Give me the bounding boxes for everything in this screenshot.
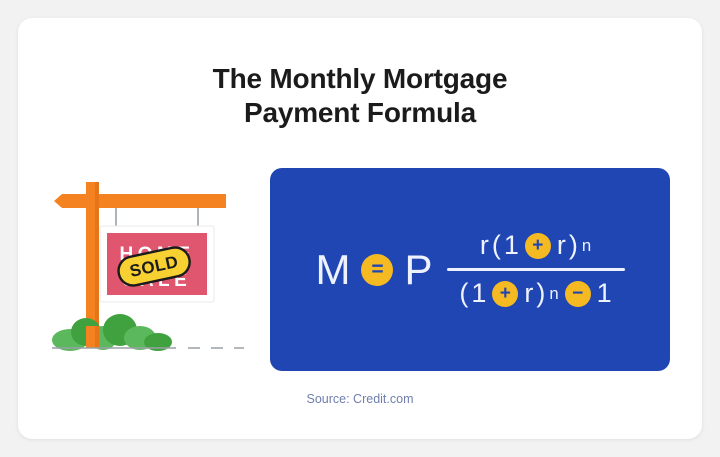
infographic-root: The Monthly Mortgage Payment Formula HOM… bbox=[0, 0, 720, 457]
title-line-1: The Monthly Mortgage bbox=[18, 62, 702, 96]
formula-variable-m: M bbox=[315, 249, 350, 291]
source-attribution: Source: Credit.com bbox=[18, 392, 702, 406]
formula-panel: M = P r ( 1 + r ) n bbox=[270, 168, 670, 371]
formula-numerator: r ( 1 + r ) n bbox=[480, 232, 591, 268]
home-for-sale-sign-illustration: HOME SALE SOLD bbox=[48, 178, 268, 378]
formula-expression: M = P r ( 1 + r ) n bbox=[270, 168, 670, 371]
numerator-rate-variable: r bbox=[480, 232, 489, 259]
formula-fraction: r ( 1 + r ) n ( 1 + r ) bbox=[447, 232, 625, 307]
numerator-rate-inside: r bbox=[557, 232, 566, 259]
formula-variable-p: P bbox=[404, 249, 432, 291]
sign-crossbar bbox=[54, 194, 226, 208]
denominator-close-paren: ) bbox=[536, 280, 545, 307]
denominator-one: 1 bbox=[471, 280, 486, 307]
denominator-open-paren: ( bbox=[459, 280, 468, 307]
formula-left-hand-side: M = P bbox=[315, 249, 432, 291]
plus-badge-icon-numerator: + bbox=[525, 233, 551, 259]
equals-badge-icon: = bbox=[361, 254, 393, 286]
numerator-open-paren: ( bbox=[492, 232, 501, 259]
denominator-trailing-one: 1 bbox=[597, 280, 612, 307]
content-card: The Monthly Mortgage Payment Formula HOM… bbox=[18, 18, 702, 439]
denominator-rate-inside: r bbox=[524, 280, 533, 307]
plus-badge-icon-denominator: + bbox=[492, 281, 518, 307]
minus-badge-icon: − bbox=[565, 281, 591, 307]
title-line-2: Payment Formula bbox=[18, 96, 702, 130]
page-title: The Monthly Mortgage Payment Formula bbox=[18, 62, 702, 130]
bush-cluster bbox=[52, 314, 172, 351]
sign-post-foot-shadow bbox=[95, 326, 99, 348]
numerator-close-paren: ) bbox=[569, 232, 578, 259]
numerator-one: 1 bbox=[504, 232, 519, 259]
sign-svg: HOME SALE SOLD bbox=[48, 178, 268, 378]
formula-denominator: ( 1 + r ) n − 1 bbox=[459, 271, 611, 307]
